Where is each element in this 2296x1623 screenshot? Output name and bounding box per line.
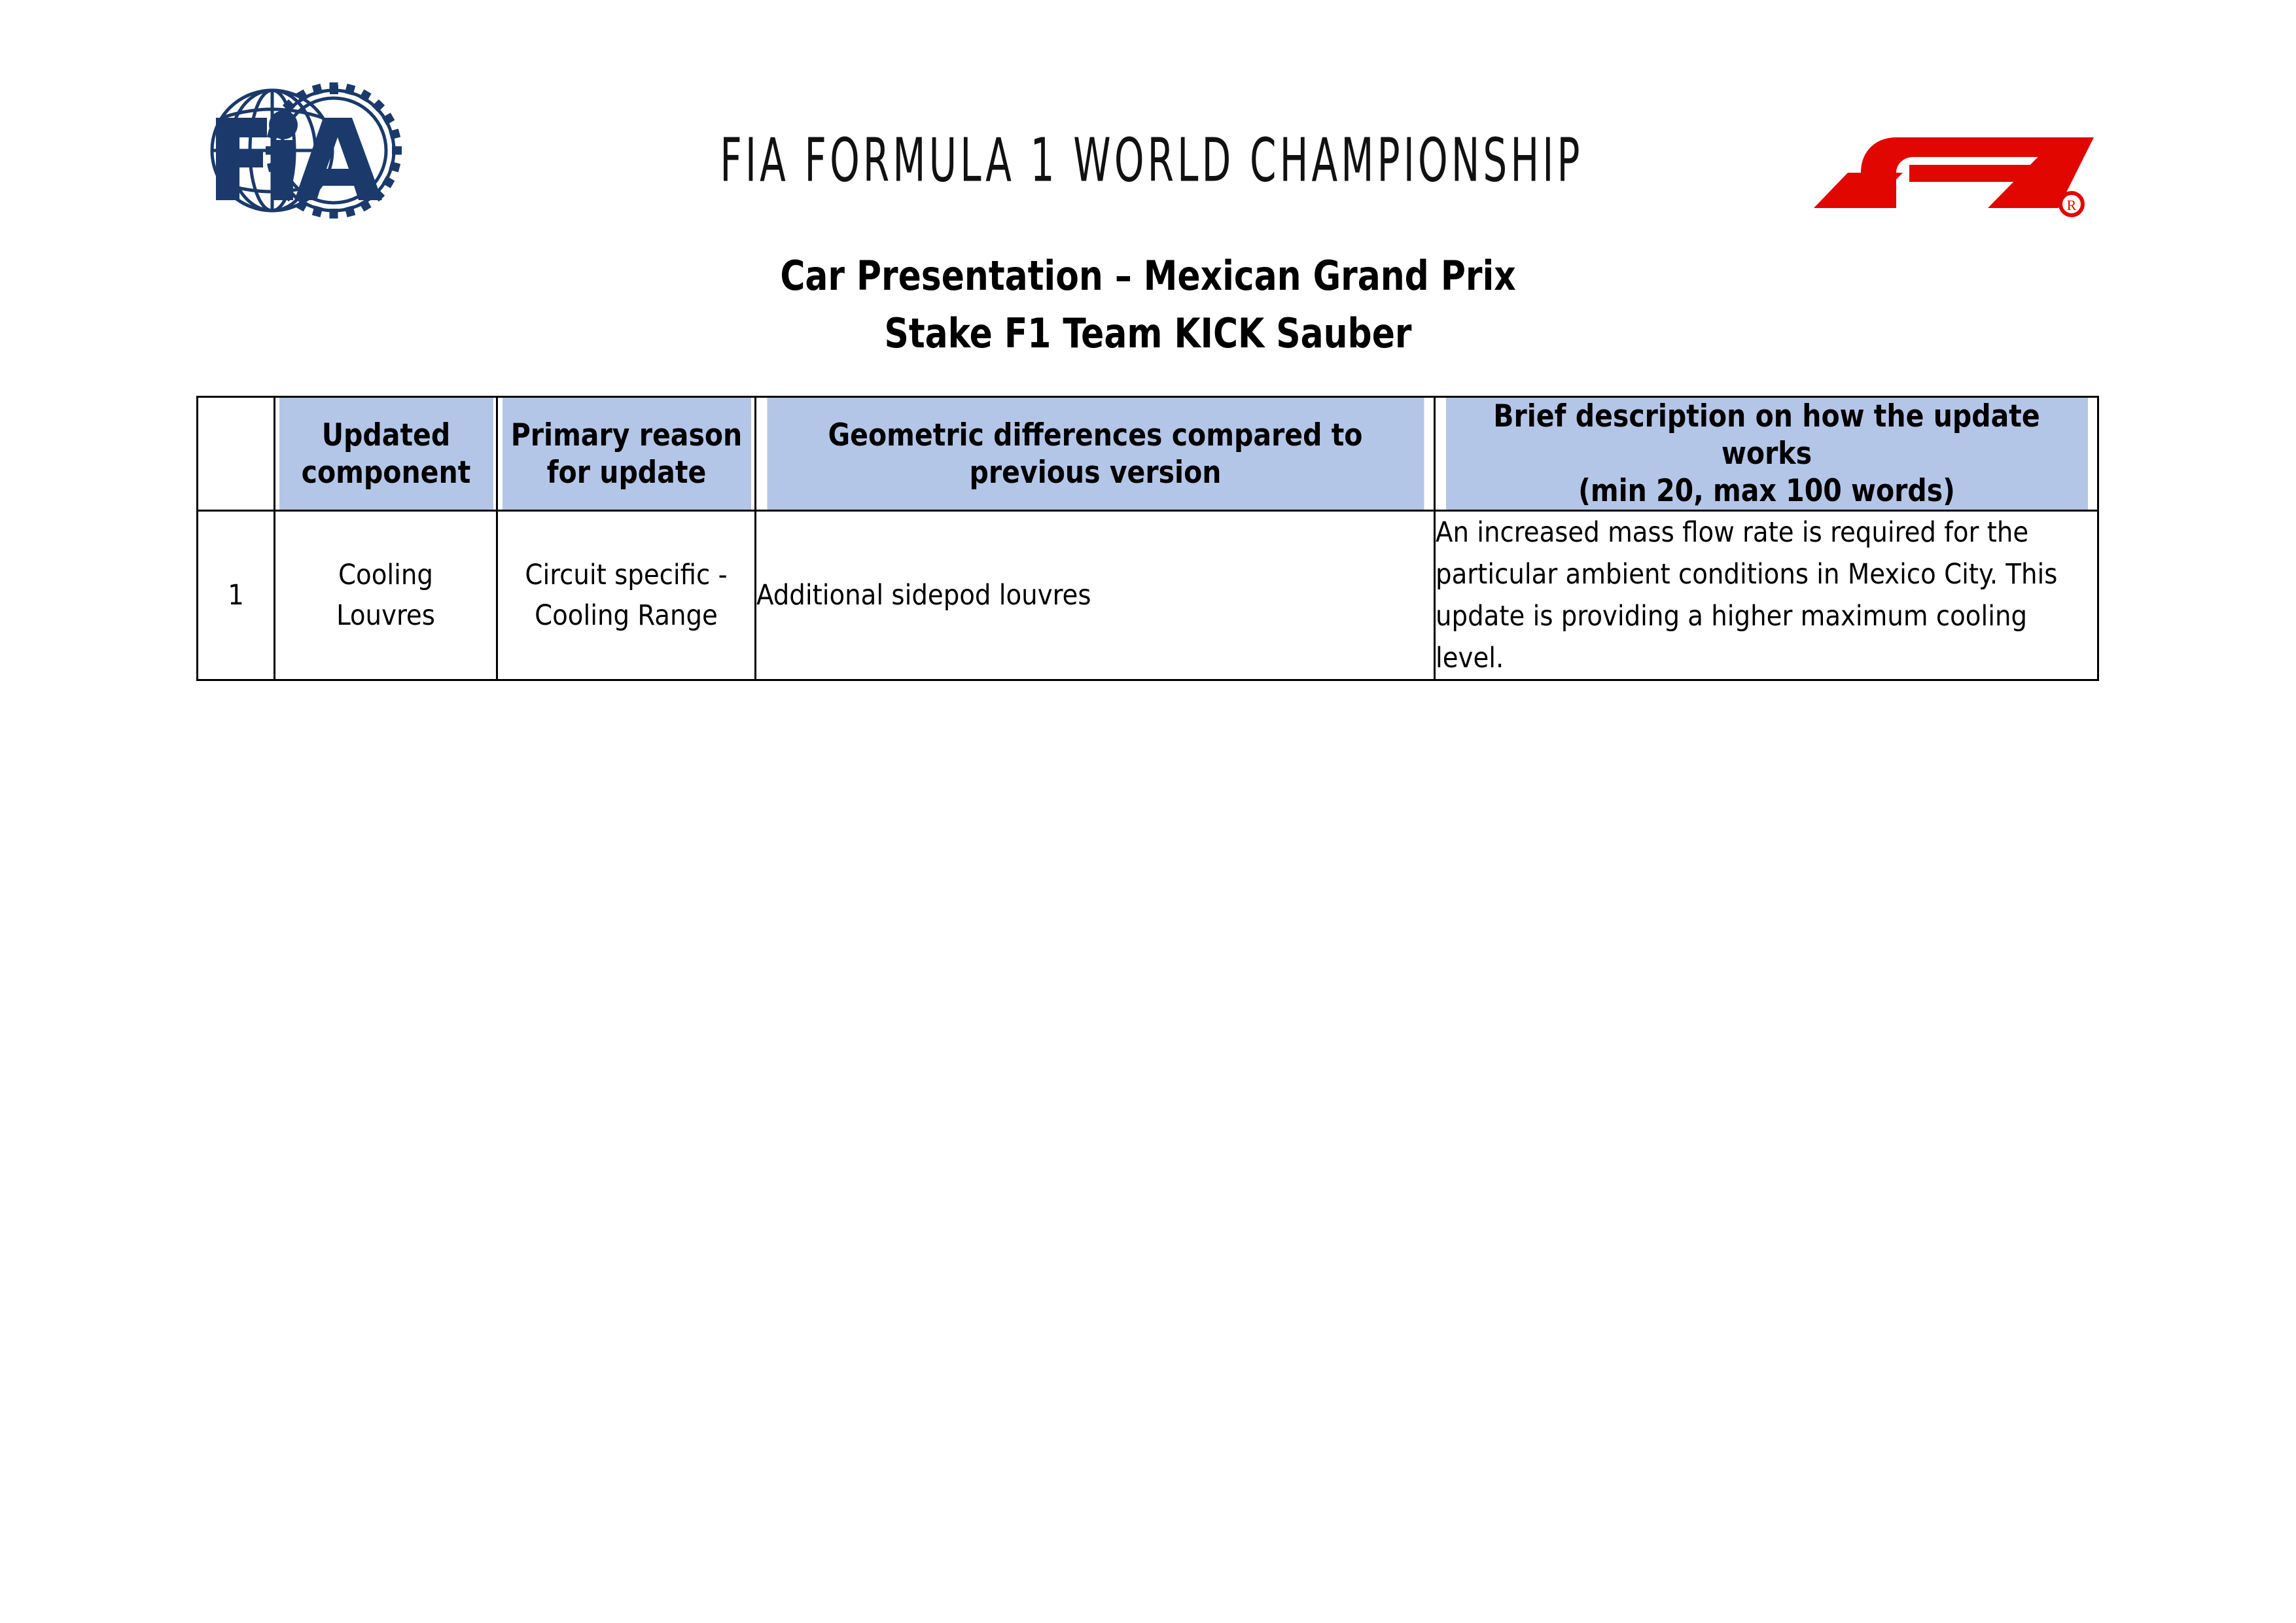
column-header-line2: for update — [502, 454, 751, 491]
car-update-table: Updated component Primary reason for upd… — [196, 396, 2099, 681]
column-header-line1: Geometric differences compared to — [767, 417, 1424, 454]
column-header-line1: Brief description on how the update work… — [1445, 398, 2087, 472]
column-header-index — [198, 397, 275, 511]
cell-line1: Cooling — [275, 555, 496, 595]
column-header-geometric-differences: Geometric differences compared to previo… — [766, 397, 1424, 511]
f1-trademark-symbol: R — [2067, 197, 2077, 213]
column-header-line2: (min 20, max 100 words) — [1445, 472, 2087, 510]
cell-row-index: 1 — [198, 511, 275, 680]
car-update-table-container: Updated component Primary reason for upd… — [196, 396, 2097, 681]
page-title-line2: Stake F1 Team KICK Sauber — [80, 305, 2216, 362]
cell-primary-reason: Circuit specific - Cooling Range — [497, 511, 756, 680]
cell-line2: Cooling Range — [498, 595, 754, 636]
column-header-line1: Updated — [279, 417, 493, 454]
table-body: 1 Cooling Louvres Circuit specific - Coo… — [198, 511, 2098, 680]
table-row: 1 Cooling Louvres Circuit specific - Coo… — [198, 511, 2098, 680]
page-header: FIA FORMULA 1 WORLD CHAMPIONSHIP R — [0, 0, 2296, 249]
document-headings: Car Presentation – Mexican Grand Prix St… — [0, 247, 2296, 362]
cell-brief-description: An increased mass flow rate is required … — [1435, 511, 2098, 680]
f1-logo-icon: R — [1798, 124, 2099, 221]
column-header-brief-description: Brief description on how the update work… — [1445, 397, 2089, 511]
column-header-line2: previous version — [767, 454, 1424, 491]
page-title-line1: Car Presentation – Mexican Grand Prix — [80, 247, 2216, 305]
column-header-updated-component: Updated component — [278, 397, 494, 511]
table-header: Updated component Primary reason for upd… — [198, 397, 2098, 511]
championship-title: FIA FORMULA 1 WORLD CHAMPIONSHIP — [667, 131, 1635, 191]
cell-geometric-differences: Additional sidepod louvres — [756, 511, 1435, 680]
table-header-row: Updated component Primary reason for upd… — [198, 397, 2098, 511]
column-header-line2: component — [279, 454, 493, 491]
column-header-primary-reason: Primary reason for update — [501, 397, 751, 511]
cell-line2: Louvres — [275, 595, 496, 636]
fia-logo-icon — [195, 77, 411, 224]
column-header-line1: Primary reason — [502, 417, 751, 454]
cell-line1: Circuit specific - — [498, 555, 754, 595]
cell-updated-component: Cooling Louvres — [275, 511, 497, 680]
